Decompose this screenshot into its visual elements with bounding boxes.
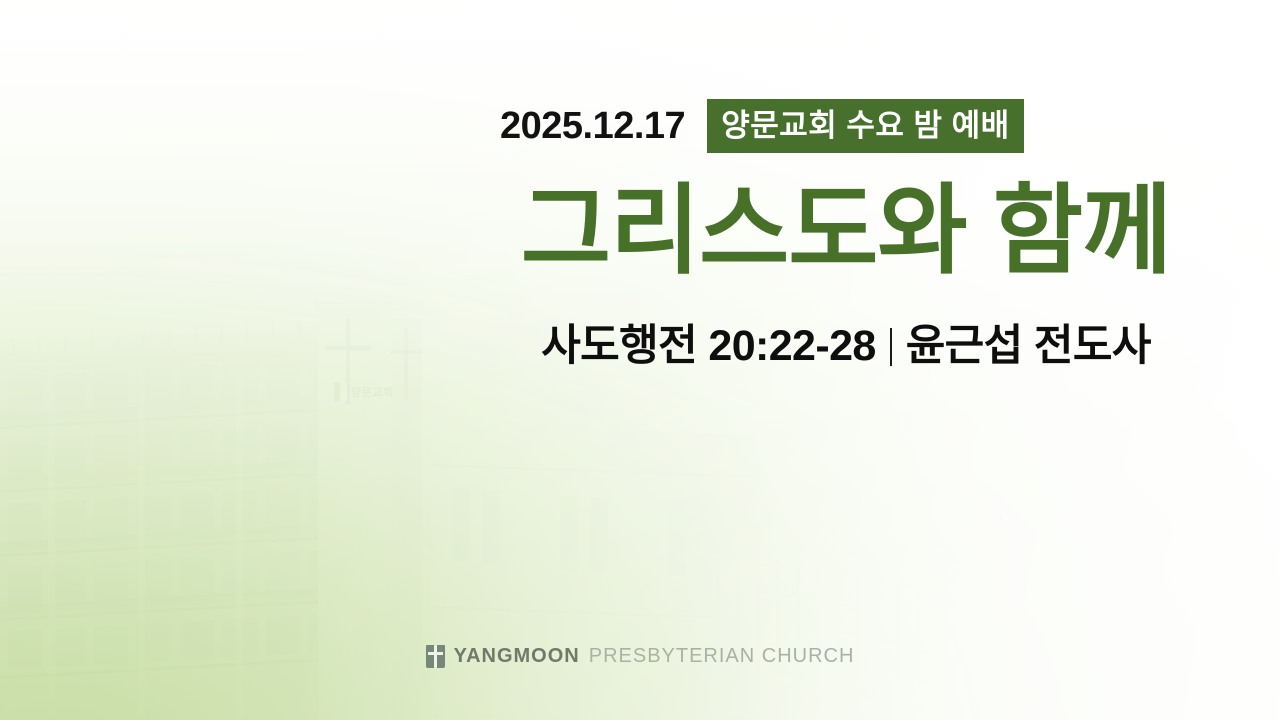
scripture-reference: 사도행전 20:22-28: [541, 322, 876, 371]
sermon-title: 그리스도와 함께: [486, 178, 1206, 284]
speaker-name: 윤근섭 전도사: [906, 322, 1151, 371]
service-badge: 양문교회 수요 밤 예배: [707, 99, 1024, 153]
church-footer-logo: YANGMOON PRESBYTERIAN CHURCH: [0, 645, 1280, 668]
scripture-and-speaker: 사도행전 20:22-28 윤근섭 전도사: [486, 322, 1206, 371]
slide-content: 2025.12.17 양문교회 수요 밤 예배 그리스도와 함께 사도행전 20…: [0, 0, 1280, 720]
service-date: 2025.12.17: [500, 107, 685, 145]
open-book-cross-icon: [426, 645, 445, 668]
church-logo-subtitle: PRESBYTERIAN CHURCH: [589, 645, 855, 668]
worship-title-slide: 양문교회 2025.12.17 양문교회 수요 밤 예배 그리스도와 함께 사도…: [0, 0, 1280, 720]
church-logo-name: YANGMOON: [454, 645, 580, 668]
subtitle-separator: [890, 328, 892, 366]
headline-row: 2025.12.17 양문교회 수요 밤 예배: [500, 100, 1024, 152]
